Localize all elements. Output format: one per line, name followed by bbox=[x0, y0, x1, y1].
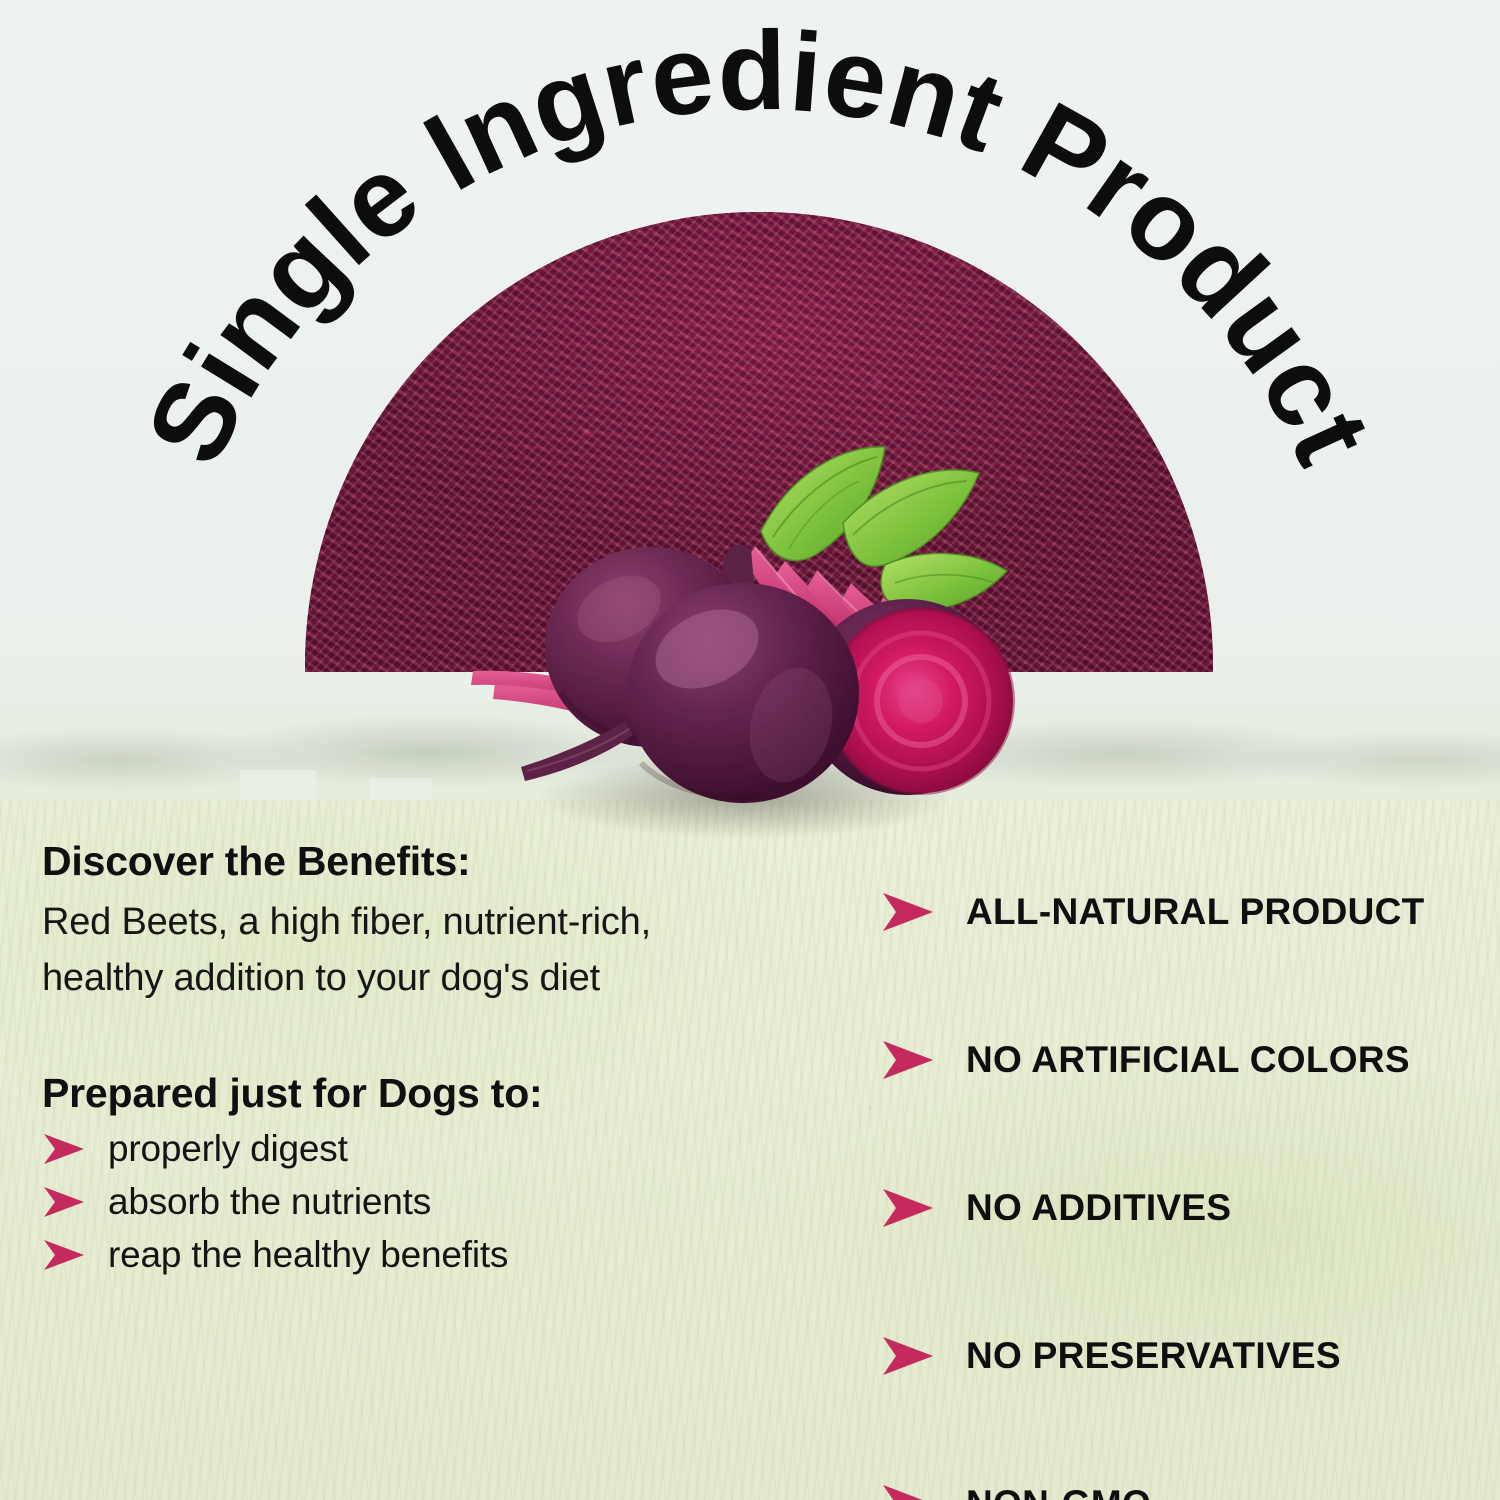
infographic-root: Single Ingredient Product bbox=[0, 0, 1500, 1500]
headline-arc-text: Single Ingredient Product bbox=[122, 8, 1396, 482]
list-item-label: reap the healthy benefits bbox=[108, 1234, 508, 1276]
arrow-bullet-icon bbox=[42, 1132, 86, 1166]
beets-foreground-image bbox=[455, 425, 1055, 845]
list-item-label: properly digest bbox=[108, 1128, 348, 1170]
arrow-bullet-icon bbox=[880, 1038, 936, 1082]
list-item-label: absorb the nutrients bbox=[108, 1181, 431, 1223]
list-item: reap the healthy benefits bbox=[42, 1234, 762, 1276]
feature-row: NON-GMO bbox=[880, 1430, 1480, 1500]
list-item: absorb the nutrients bbox=[42, 1181, 762, 1223]
arrow-bullet-icon bbox=[42, 1185, 86, 1219]
arrow-bullet-icon bbox=[42, 1238, 86, 1272]
feature-label: ALL-NATURAL PRODUCT bbox=[966, 891, 1425, 933]
feature-label: NO ADDITIVES bbox=[966, 1187, 1231, 1229]
right-features-column: ALL-NATURAL PRODUCT NO ARTIFICIAL COLORS… bbox=[880, 838, 1480, 1500]
arrow-bullet-icon bbox=[880, 1186, 936, 1230]
arrow-bullet-icon bbox=[880, 890, 936, 934]
feature-row: NO ADDITIVES bbox=[880, 1134, 1480, 1282]
feature-row: ALL-NATURAL PRODUCT bbox=[880, 838, 1480, 986]
arrow-bullet-icon bbox=[880, 1482, 936, 1500]
feature-row: NO PRESERVATIVES bbox=[880, 1282, 1480, 1430]
feature-row: NO ARTIFICIAL COLORS bbox=[880, 986, 1480, 1134]
arrow-bullet-icon bbox=[880, 1334, 936, 1378]
benefits-body-text: Red Beets, a high fiber, nutrient-rich, … bbox=[42, 895, 732, 1006]
column-spacer bbox=[42, 1006, 762, 1070]
feature-label: NO PRESERVATIVES bbox=[966, 1335, 1341, 1377]
list-item: properly digest bbox=[42, 1128, 762, 1170]
benefits-heading: Discover the Benefits: bbox=[42, 838, 762, 885]
feature-label: NO ARTIFICIAL COLORS bbox=[966, 1039, 1410, 1081]
feature-label: NON-GMO bbox=[966, 1483, 1151, 1500]
left-content-column: Discover the Benefits: Red Beets, a high… bbox=[42, 838, 762, 1287]
prepared-heading: Prepared just for Dogs to: bbox=[42, 1070, 762, 1117]
